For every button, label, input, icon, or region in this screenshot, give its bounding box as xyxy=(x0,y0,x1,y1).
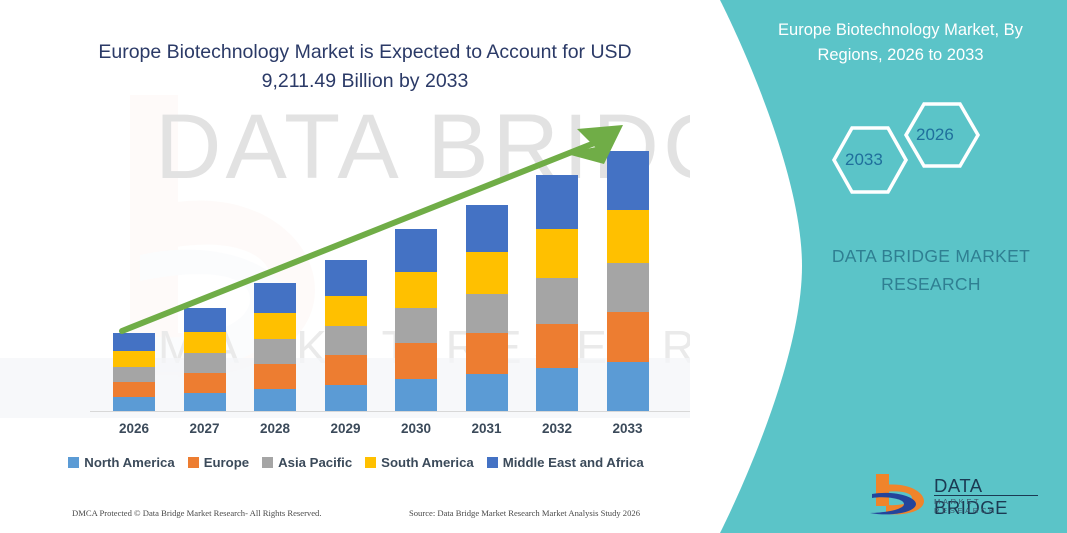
bar-segment xyxy=(254,364,296,389)
bar-2032 xyxy=(536,175,578,411)
legend-swatch-icon xyxy=(365,457,376,468)
bar-segment xyxy=(607,312,649,362)
legend-swatch-icon xyxy=(262,457,273,468)
bar-segment xyxy=(325,326,367,355)
bar-segment xyxy=(184,393,226,411)
logo-tagline: MARKET RESEARCH xyxy=(934,497,1040,515)
bar-2031 xyxy=(466,205,508,411)
bar-segment xyxy=(184,353,226,373)
logo-divider xyxy=(934,495,1038,496)
bar-segment xyxy=(607,362,649,411)
bar-segment xyxy=(466,205,508,252)
footer-bar: DMCA Protected © Data Bridge Market Rese… xyxy=(0,508,712,518)
bar-segment xyxy=(536,368,578,411)
panel-title: Europe Biotechnology Market, By Regions,… xyxy=(748,18,1053,68)
bar-segment xyxy=(113,397,155,411)
legend-item[interactable]: North America xyxy=(68,455,174,470)
chart-legend: North AmericaEuropeAsia PacificSouth Ame… xyxy=(0,455,712,470)
bar-2033 xyxy=(607,151,649,411)
bar-segment xyxy=(536,175,578,229)
bar-segment xyxy=(395,272,437,308)
bar-segment xyxy=(254,389,296,411)
company-logo: DATA BRIDGE MARKET RESEARCH xyxy=(868,472,1040,518)
bar-segment xyxy=(536,278,578,324)
hexagon-group: 2026 2033 xyxy=(820,90,1000,210)
bar-segment xyxy=(466,374,508,411)
bar-segment xyxy=(466,333,508,374)
bar-segment xyxy=(113,333,155,351)
legend-label: Asia Pacific xyxy=(278,455,352,470)
bar-segment xyxy=(325,260,367,296)
hexagon-label-front: 2033 xyxy=(845,150,883,170)
bar-segment xyxy=(113,382,155,397)
legend-item[interactable]: Europe xyxy=(188,455,249,470)
x-axis-label-2031: 2031 xyxy=(457,421,517,436)
panel-brand-line: DATA BRIDGE MARKET RESEARCH xyxy=(800,242,1062,298)
bar-segment xyxy=(113,367,155,382)
chart-plot-area: 20262027202820292030203120322033 xyxy=(0,0,712,533)
bar-2027 xyxy=(184,308,226,411)
bar-segment xyxy=(466,294,508,333)
legend-swatch-icon xyxy=(188,457,199,468)
bar-2028 xyxy=(254,283,296,411)
bar-segment xyxy=(325,355,367,385)
legend-label: Middle East and Africa xyxy=(503,455,644,470)
x-axis-label-2033: 2033 xyxy=(598,421,658,436)
bar-segment xyxy=(607,263,649,312)
bar-segment xyxy=(536,229,578,278)
legend-swatch-icon xyxy=(68,457,79,468)
bar-segment xyxy=(395,379,437,411)
legend-item[interactable]: Middle East and Africa xyxy=(487,455,644,470)
footer-copyright: DMCA Protected © Data Bridge Market Rese… xyxy=(72,508,322,518)
legend-swatch-icon xyxy=(487,457,498,468)
x-axis-label-2029: 2029 xyxy=(316,421,376,436)
bar-segment xyxy=(607,210,649,263)
bar-2030 xyxy=(395,229,437,411)
legend-label: Europe xyxy=(204,455,249,470)
bar-segment xyxy=(254,339,296,364)
bar-segment xyxy=(395,343,437,379)
bar-segment xyxy=(325,385,367,411)
legend-label: South America xyxy=(381,455,474,470)
bar-segment xyxy=(466,252,508,294)
x-axis-label-2027: 2027 xyxy=(175,421,235,436)
bar-segment xyxy=(254,313,296,339)
bar-segment xyxy=(184,308,226,332)
x-axis-label-2030: 2030 xyxy=(386,421,446,436)
bar-segment xyxy=(184,373,226,393)
bar-2029 xyxy=(325,260,367,411)
x-axis-label-2028: 2028 xyxy=(245,421,305,436)
legend-label: North America xyxy=(84,455,174,470)
bar-segment xyxy=(325,296,367,326)
bar-segment xyxy=(254,283,296,313)
bar-segment xyxy=(395,308,437,343)
bar-2026 xyxy=(113,333,155,411)
data-bridge-b-logo-icon xyxy=(868,472,930,518)
hexagon-label-back: 2026 xyxy=(916,125,954,145)
infographic-slide: DATA BRIDGE MARKET RESEARCH Europe Biote… xyxy=(0,0,1067,533)
bar-segment xyxy=(607,151,649,210)
bar-segment xyxy=(395,229,437,272)
bar-segment xyxy=(113,351,155,367)
footer-source: Source: Data Bridge Market Research Mark… xyxy=(409,508,640,518)
x-axis-label-2026: 2026 xyxy=(104,421,164,436)
bar-segment xyxy=(184,332,226,353)
legend-item[interactable]: Asia Pacific xyxy=(262,455,352,470)
bar-segment xyxy=(536,324,578,368)
legend-item[interactable]: South America xyxy=(365,455,474,470)
x-axis-line xyxy=(90,411,690,412)
x-axis-label-2032: 2032 xyxy=(527,421,587,436)
